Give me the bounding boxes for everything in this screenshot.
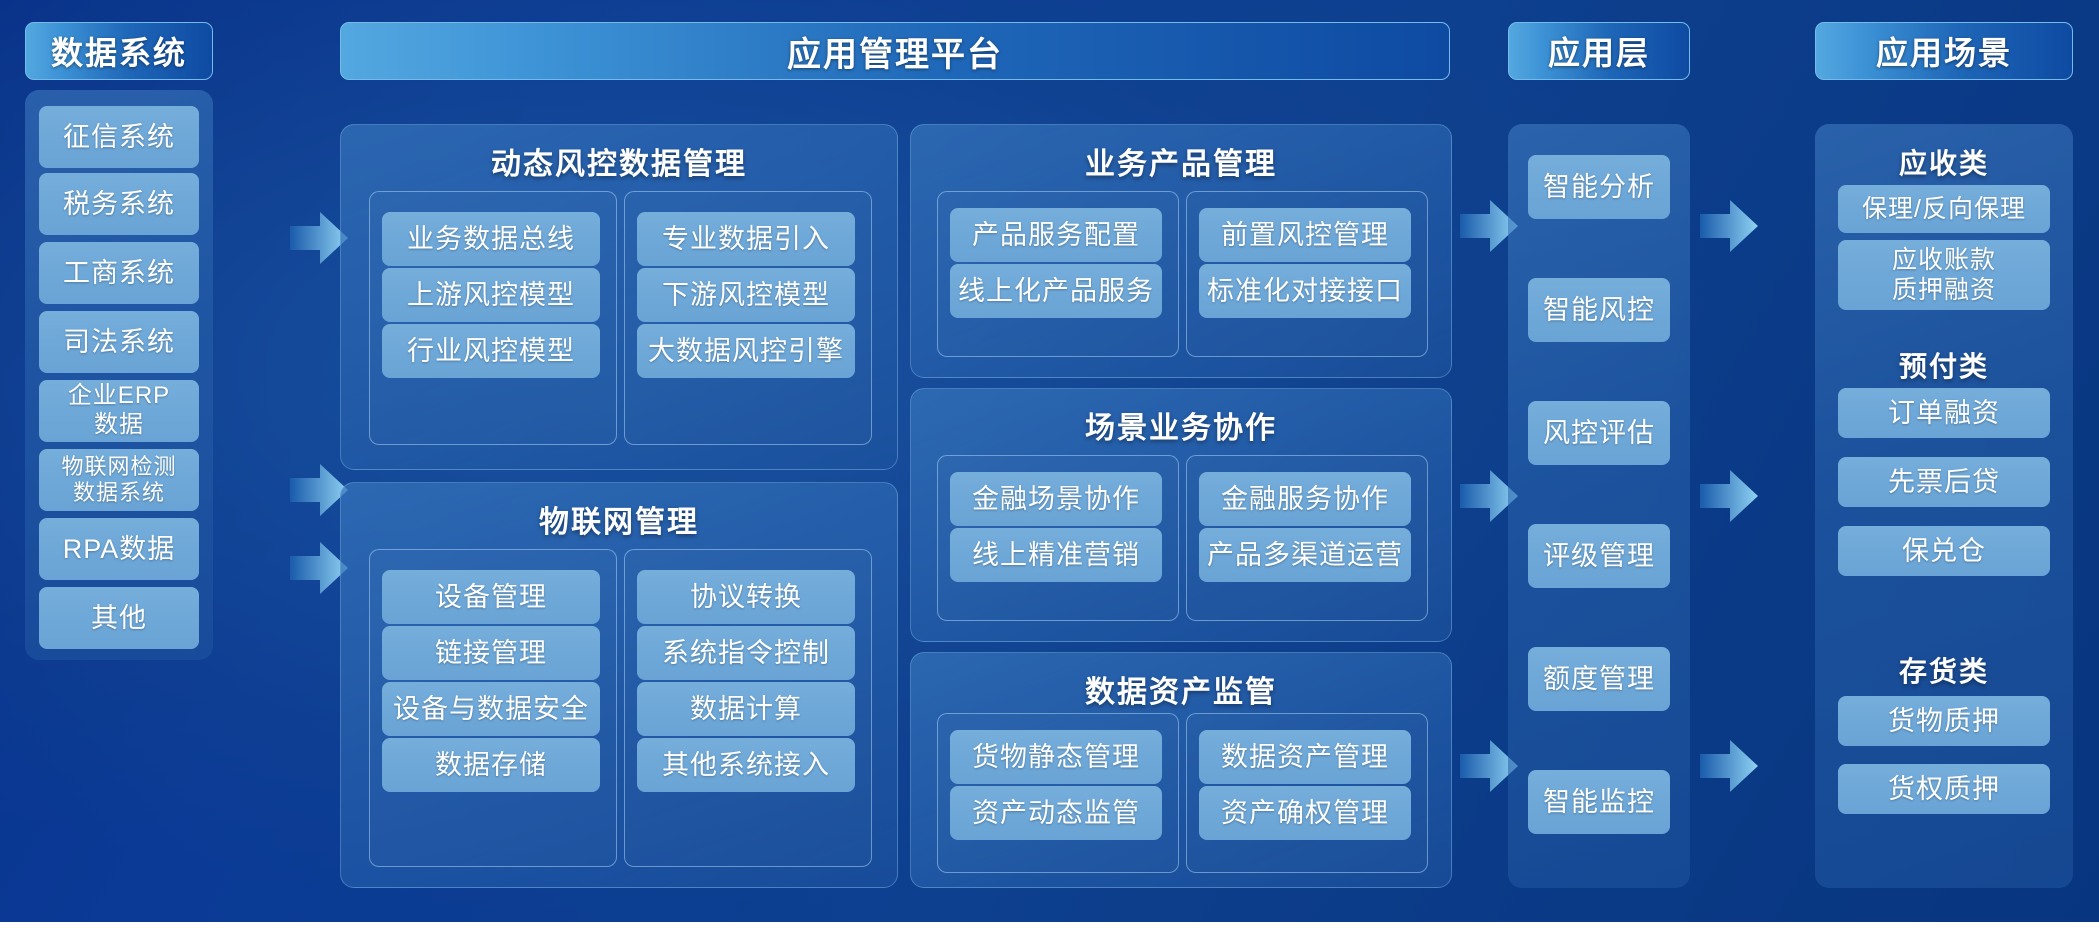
app-layer-item-1[interactable]: 智能风控 [1528,278,1670,342]
cell-label: 其他 [91,602,147,634]
cell-label: 工商系统 [63,257,175,289]
cell-label: 数据存储 [435,749,547,781]
cell-label: 评级管理 [1543,540,1655,572]
scenario-1-item-0[interactable]: 订单融资 [1838,388,2050,438]
cell-label: 额度管理 [1543,663,1655,695]
module4-right-item-0[interactable]: 数据资产管理 [1199,730,1411,784]
column-title-label: 应用场景 [1876,28,2012,74]
data-system-item-3[interactable]: 司法系统 [39,311,199,373]
cell-label: 金融服务协作 [1221,483,1389,515]
cell-label: 数据计算 [690,693,802,725]
data-system-item-6[interactable]: RPA数据 [39,518,199,580]
column-title-platform: 应用管理平台 [340,22,1450,80]
cell-label: 金融场景协作 [972,483,1140,515]
data-system-item-7[interactable]: 其他 [39,587,199,649]
cell-label: 智能监控 [1543,786,1655,818]
column-title-label: 应用层 [1548,28,1650,74]
architecture-diagram: 数据系统 征信系统 税务系统 工商系统 司法系统 企业ERP 数据 物联网检测 … [0,0,2099,922]
scenario-0-item-0[interactable]: 保理/反向保理 [1838,185,2050,233]
cell-label: 资产确权管理 [1221,797,1389,829]
flow-arrow-7 [1700,196,1760,256]
cell-label: 前置风控管理 [1221,219,1389,251]
module-title: 业务产品管理 [911,139,1451,183]
cell-label: RPA数据 [63,533,176,565]
cell-label: 设备管理 [435,581,547,613]
cell-label: 数据资产管理 [1221,741,1389,773]
cell-label: 保理/反向保理 [1862,194,2026,224]
module1-right-item-0[interactable]: 协议转换 [637,570,855,624]
flow-arrow-9 [1700,736,1760,796]
column-title-app-layer: 应用层 [1508,22,1690,80]
cell-label: 设备与数据安全 [393,693,589,725]
cell-label: 货权质押 [1888,773,2000,805]
cell-label: 货物静态管理 [972,741,1140,773]
app-layer-item-3[interactable]: 评级管理 [1528,524,1670,588]
cell-label: 行业风控模型 [407,335,575,367]
cell-label: 协议转换 [690,581,802,613]
column-title-label: 应用管理平台 [787,27,1003,76]
data-system-item-2[interactable]: 工商系统 [39,242,199,304]
module4-right-item-1[interactable]: 资产确权管理 [1199,786,1411,840]
module1-left-item-3[interactable]: 数据存储 [382,738,600,792]
cell-label: 先票后贷 [1888,466,2000,498]
column-title-label: 数据系统 [51,28,187,74]
scenario-group-heading-0: 应收类 [1815,142,2073,182]
module1-right-item-1[interactable]: 系统指令控制 [637,626,855,680]
module2-left-item-0[interactable]: 产品服务配置 [950,208,1162,262]
cell-label: 产品多渠道运营 [1207,539,1403,571]
data-system-item-1[interactable]: 税务系统 [39,173,199,235]
scenario-1-item-2[interactable]: 保兑仓 [1838,526,2050,576]
module-title: 场景业务协作 [911,403,1451,447]
module0-left-item-2[interactable]: 行业风控模型 [382,324,600,378]
scenario-group-heading-1: 预付类 [1815,345,2073,385]
cell-label: 物联网检测 数据系统 [61,454,176,507]
module0-left-item-1[interactable]: 上游风控模型 [382,268,600,322]
cell-label: 线上精准营销 [972,539,1140,571]
cell-label: 货物质押 [1888,705,2000,737]
cell-label: 司法系统 [63,326,175,358]
module4-left-item-1[interactable]: 资产动态监管 [950,786,1162,840]
cell-label: 应收账款 质押融资 [1892,245,1996,305]
cell-label: 资产动态监管 [972,797,1140,829]
cell-label: 标准化对接接口 [1207,275,1403,307]
data-system-item-5[interactable]: 物联网检测 数据系统 [39,449,199,511]
column-title-data-systems: 数据系统 [25,22,213,80]
cell-label: 征信系统 [63,121,175,153]
module3-left-item-1[interactable]: 线上精准营销 [950,528,1162,582]
cell-label: 下游风控模型 [662,279,830,311]
cell-label: 产品服务配置 [972,219,1140,251]
module2-right-item-1[interactable]: 标准化对接接口 [1199,264,1411,318]
module0-right-item-1[interactable]: 下游风控模型 [637,268,855,322]
cell-label: 链接管理 [435,637,547,669]
bottom-white-strip [0,922,2099,950]
module0-right-item-2[interactable]: 大数据风控引擎 [637,324,855,378]
module4-left-item-0[interactable]: 货物静态管理 [950,730,1162,784]
module-title: 动态风控数据管理 [341,139,897,183]
cell-label: 企业ERP 数据 [68,382,170,440]
module-title: 数据资产监管 [911,667,1451,711]
cell-label: 税务系统 [63,188,175,220]
cell-label: 智能分析 [1543,171,1655,203]
app-layer-item-2[interactable]: 风控评估 [1528,401,1670,465]
module0-left-item-0[interactable]: 业务数据总线 [382,212,600,266]
data-system-item-4[interactable]: 企业ERP 数据 [39,380,199,442]
scenario-2-item-0[interactable]: 货物质押 [1838,696,2050,746]
cell-label: 系统指令控制 [662,637,830,669]
data-system-item-0[interactable]: 征信系统 [39,106,199,168]
cell-label: 智能风控 [1543,294,1655,326]
module3-right-item-1[interactable]: 产品多渠道运营 [1199,528,1411,582]
module1-left-item-1[interactable]: 链接管理 [382,626,600,680]
cell-label: 上游风控模型 [407,279,575,311]
app-layer-item-4[interactable]: 额度管理 [1528,647,1670,711]
scenario-1-item-1[interactable]: 先票后贷 [1838,457,2050,507]
cell-label: 专业数据引入 [662,223,830,255]
module0-right-item-0[interactable]: 专业数据引入 [637,212,855,266]
cell-label: 风控评估 [1543,417,1655,449]
module3-left-item-0[interactable]: 金融场景协作 [950,472,1162,526]
module-title: 物联网管理 [341,497,897,541]
module1-right-item-2[interactable]: 数据计算 [637,682,855,736]
module1-right-item-3[interactable]: 其他系统接入 [637,738,855,792]
app-layer-item-5[interactable]: 智能监控 [1528,770,1670,834]
cell-label: 保兑仓 [1902,535,1986,567]
app-layer-item-0[interactable]: 智能分析 [1528,155,1670,219]
module2-right-item-0[interactable]: 前置风控管理 [1199,208,1411,262]
module2-left-item-1[interactable]: 线上化产品服务 [950,264,1162,318]
cell-label: 业务数据总线 [407,223,575,255]
module1-left-item-2[interactable]: 设备与数据安全 [382,682,600,736]
module1-left-item-0[interactable]: 设备管理 [382,570,600,624]
scenario-0-item-1[interactable]: 应收账款 质押融资 [1838,240,2050,310]
cell-label: 其他系统接入 [662,749,830,781]
cell-label: 线上化产品服务 [958,275,1154,307]
cell-label: 大数据风控引擎 [648,335,844,367]
module3-right-item-0[interactable]: 金融服务协作 [1199,472,1411,526]
scenario-group-heading-2: 存货类 [1815,650,2073,690]
cell-label: 订单融资 [1888,397,2000,429]
flow-arrow-8 [1700,466,1760,526]
column-title-scenarios: 应用场景 [1815,22,2073,80]
scenario-2-item-1[interactable]: 货权质押 [1838,764,2050,814]
